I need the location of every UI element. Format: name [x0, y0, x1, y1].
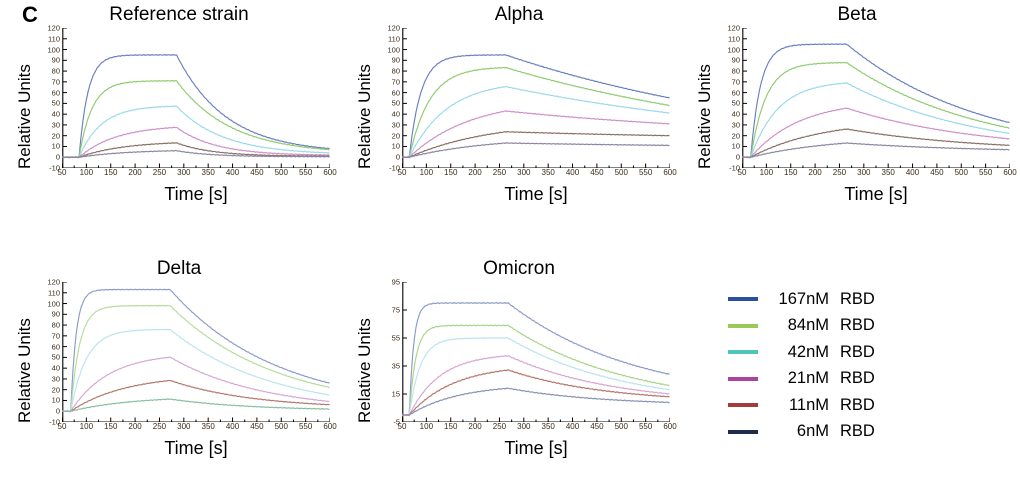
x-tick-label: 50 — [58, 422, 67, 431]
legend-item[interactable]: 11nMRBD — [728, 392, 875, 419]
x-tick-label: 500 — [615, 168, 628, 177]
y-tick-label: 75 — [392, 306, 400, 315]
chart-canvas: 50100150200250300350400450500550600Time … — [62, 28, 330, 205]
y-axis-title: Relative Units — [694, 28, 716, 205]
x-tick-label: 400 — [226, 422, 239, 431]
x-tick-label: 100 — [80, 168, 93, 177]
y-tick-label: 80 — [392, 67, 400, 76]
x-tick-label: 350 — [881, 168, 894, 177]
legend-item[interactable]: 42nMRBD — [728, 339, 875, 366]
x-tick-label: 500 — [955, 168, 968, 177]
panel-omicron: OmicronRelative Units-515355575955010015… — [354, 256, 684, 459]
y-tick-label: 90 — [392, 56, 400, 65]
legend-concentration-label: 84nM — [767, 316, 829, 335]
legend-item[interactable]: 84nMRBD — [728, 313, 875, 340]
y-tick-label: 10 — [732, 142, 740, 151]
y-tick-label: 40 — [392, 110, 400, 119]
y-tick-label: 10 — [52, 142, 60, 151]
chart-title: Reference strain — [14, 2, 344, 28]
y-tick-label: 0 — [56, 153, 60, 162]
x-tick-label: 500 — [615, 422, 628, 431]
y-axis-title: Relative Units — [354, 28, 376, 205]
x-axis-title: Time [s] — [402, 438, 670, 459]
legend-color-swatch — [728, 430, 758, 434]
x-axis-ticks: 50100150200250300350400450500550600 — [742, 168, 1010, 182]
x-tick-label: 500 — [275, 168, 288, 177]
y-tick-label: 90 — [52, 56, 60, 65]
chart-title: Alpha — [354, 2, 684, 28]
y-axis-ticks: -100102030405060708090100110120 — [36, 282, 62, 422]
panel-reference-strain: Reference strainRelative Units-100102030… — [14, 2, 344, 205]
y-tick-label: 60 — [392, 88, 400, 97]
chart-title: Omicron — [354, 256, 684, 282]
x-tick-label: 200 — [128, 168, 141, 177]
x-tick-label: 350 — [541, 168, 554, 177]
y-tick-label: 15 — [392, 390, 400, 399]
x-tick-label: 450 — [250, 168, 263, 177]
plot-area: Relative Units-1001020304050607080901001… — [14, 28, 344, 205]
x-tick-label: 200 — [468, 422, 481, 431]
x-tick-label: 300 — [857, 168, 870, 177]
x-tick-label: 50 — [58, 168, 67, 177]
x-tick-label: 50 — [738, 168, 747, 177]
legend-analyte-label: RBD — [840, 369, 875, 388]
y-tick-label: 0 — [396, 153, 400, 162]
chart-canvas: 50100150200250300350400450500550600Time … — [402, 282, 670, 459]
sensorgram-curve — [62, 106, 329, 158]
y-tick-label: 95 — [392, 278, 400, 287]
plot-area: Relative Units-1001020304050607080901001… — [694, 28, 1020, 205]
y-tick-label: 30 — [732, 120, 740, 129]
y-axis-ticks: -100102030405060708090100110120 — [716, 28, 742, 168]
legend-concentration-label: 11nM — [767, 396, 829, 415]
plot-area: Relative Units-1001020304050607080901001… — [354, 28, 684, 205]
x-tick-label: 550 — [639, 422, 652, 431]
legend-color-swatch — [728, 324, 758, 328]
x-tick-label: 450 — [590, 422, 603, 431]
x-tick-label: 600 — [663, 168, 676, 177]
y-tick-label: 30 — [52, 120, 60, 129]
y-tick-label: 0 — [736, 153, 740, 162]
legend-analyte-label: RBD — [840, 396, 875, 415]
x-axis-ticks: 50100150200250300350400450500550600 — [62, 168, 330, 182]
sensorgram-curve — [742, 143, 1009, 158]
y-tick-label: 20 — [52, 131, 60, 140]
sensorgram-curve — [742, 108, 1009, 158]
sensorgram-curve — [402, 303, 669, 416]
y-tick-label: 10 — [52, 396, 60, 405]
legend-item[interactable]: 167nMRBD — [728, 286, 875, 313]
x-tick-label: 600 — [1003, 168, 1016, 177]
panel-delta: DeltaRelative Units-10010203040506070809… — [14, 256, 344, 459]
x-tick-label: 200 — [468, 168, 481, 177]
x-tick-label: 450 — [250, 422, 263, 431]
x-tick-label: 600 — [323, 422, 336, 431]
legend-analyte-label: RBD — [840, 316, 875, 335]
x-tick-label: 100 — [420, 168, 433, 177]
y-tick-label: 30 — [52, 374, 60, 383]
plot-area: Relative Units-5153555759550100150200250… — [354, 282, 684, 459]
sensorgram-curve — [402, 55, 669, 158]
y-tick-label: 80 — [52, 67, 60, 76]
y-axis-ticks: -51535557595 — [376, 282, 402, 422]
x-tick-label: 300 — [177, 422, 190, 431]
x-tick-label: 200 — [808, 168, 821, 177]
y-tick-label: 60 — [52, 342, 60, 351]
x-tick-label: 50 — [398, 168, 407, 177]
y-tick-label: 100 — [387, 45, 400, 54]
y-tick-label: 60 — [52, 88, 60, 97]
x-tick-label: 200 — [128, 422, 141, 431]
y-tick-label: 110 — [388, 34, 400, 43]
y-axis-title: Relative Units — [14, 28, 36, 205]
x-tick-label: 50 — [398, 422, 407, 431]
y-tick-label: 90 — [52, 310, 60, 319]
x-axis-title: Time [s] — [402, 184, 670, 205]
y-tick-label: 100 — [727, 45, 740, 54]
y-tick-label: 50 — [732, 99, 740, 108]
y-tick-label: 40 — [52, 110, 60, 119]
y-axis-title: Relative Units — [354, 282, 376, 459]
y-tick-label: 70 — [52, 77, 60, 86]
legend-color-swatch — [728, 377, 758, 381]
y-tick-label: 120 — [727, 24, 740, 33]
chart-canvas: 50100150200250300350400450500550600Time … — [402, 28, 670, 205]
x-axis-title: Time [s] — [62, 438, 330, 459]
y-axis-title: Relative Units — [14, 282, 36, 459]
legend-concentration-label: 21nM — [767, 369, 829, 388]
legend-color-swatch — [728, 350, 758, 354]
sensorgram-curve — [742, 129, 1009, 158]
x-tick-label: 100 — [420, 422, 433, 431]
x-axis-title: Time [s] — [742, 184, 1010, 205]
x-tick-label: 600 — [323, 168, 336, 177]
x-tick-label: 300 — [517, 168, 530, 177]
chart-title: Beta — [694, 2, 1020, 28]
y-tick-label: 100 — [47, 299, 60, 308]
sensorgram-curve — [62, 289, 329, 411]
x-tick-label: 400 — [226, 168, 239, 177]
y-tick-label: 0 — [56, 407, 60, 416]
y-tick-label: 110 — [728, 34, 740, 43]
legend-analyte-label: RBD — [840, 343, 875, 362]
x-tick-label: 300 — [517, 422, 530, 431]
y-tick-label: 40 — [732, 110, 740, 119]
legend-item[interactable]: 6nMRBD — [728, 419, 875, 446]
y-tick-label: 30 — [392, 120, 400, 129]
x-tick-label: 350 — [201, 168, 214, 177]
sensorgram-curve — [402, 325, 669, 416]
y-tick-label: 20 — [392, 131, 400, 140]
x-tick-label: 550 — [299, 422, 312, 431]
x-tick-label: 400 — [906, 168, 919, 177]
y-tick-label: 20 — [732, 131, 740, 140]
x-tick-label: 550 — [299, 168, 312, 177]
x-tick-label: 350 — [541, 422, 554, 431]
y-axis-ticks: -100102030405060708090100110120 — [376, 28, 402, 168]
y-tick-label: 100 — [47, 45, 60, 54]
x-tick-label: 250 — [493, 422, 506, 431]
y-tick-label: 60 — [732, 88, 740, 97]
x-tick-label: 150 — [444, 422, 457, 431]
x-tick-label: 150 — [104, 168, 117, 177]
x-tick-label: 100 — [760, 168, 773, 177]
legend-color-swatch — [728, 403, 758, 407]
x-axis-title: Time [s] — [62, 184, 330, 205]
y-tick-label: 120 — [47, 24, 60, 33]
sensorgram-curve — [402, 388, 669, 416]
legend-color-swatch — [728, 297, 758, 301]
x-tick-label: 550 — [639, 168, 652, 177]
y-tick-label: 70 — [392, 77, 400, 86]
sensorgram-curve — [62, 357, 329, 412]
legend: 167nMRBD84nMRBD42nMRBD21nMRBD11nMRBD6nMR… — [728, 286, 875, 445]
panel-beta: BetaRelative Units-100102030405060708090… — [694, 2, 1020, 205]
y-tick-label: 120 — [47, 278, 60, 287]
x-tick-label: 150 — [444, 168, 457, 177]
x-tick-label: 250 — [833, 168, 846, 177]
sensorgram-curve — [62, 305, 329, 411]
x-axis-ticks: 50100150200250300350400450500550600 — [62, 422, 330, 436]
sensorgram-curve — [402, 356, 669, 416]
x-tick-label: 600 — [663, 422, 676, 431]
sensorgram-curve — [62, 81, 329, 158]
legend-analyte-label: RBD — [840, 290, 875, 309]
plot-area: Relative Units-1001020304050607080901001… — [14, 282, 344, 459]
y-tick-label: 55 — [392, 334, 400, 343]
chart-canvas: 50100150200250300350400450500550600Time … — [62, 282, 330, 459]
y-tick-label: 70 — [732, 77, 740, 86]
legend-concentration-label: 42nM — [767, 343, 829, 362]
x-tick-label: 400 — [566, 422, 579, 431]
y-tick-label: 80 — [52, 321, 60, 330]
x-tick-label: 400 — [566, 168, 579, 177]
y-tick-label: 50 — [52, 353, 60, 362]
y-tick-label: 50 — [52, 99, 60, 108]
x-axis-ticks: 50100150200250300350400450500550600 — [402, 168, 670, 182]
sensorgram-curve — [742, 44, 1009, 158]
x-tick-label: 350 — [201, 422, 214, 431]
x-axis-ticks: 50100150200250300350400450500550600 — [402, 422, 670, 436]
x-tick-label: 250 — [493, 168, 506, 177]
x-tick-label: 250 — [153, 422, 166, 431]
y-tick-label: 110 — [48, 288, 60, 297]
chart-title: Delta — [14, 256, 344, 282]
legend-analyte-label: RBD — [840, 422, 875, 441]
legend-concentration-label: 6nM — [767, 422, 829, 441]
legend-item[interactable]: 21nMRBD — [728, 366, 875, 393]
legend-concentration-label: 167nM — [767, 290, 829, 309]
y-tick-label: 35 — [392, 362, 400, 371]
y-tick-label: 120 — [387, 24, 400, 33]
x-tick-label: 450 — [590, 168, 603, 177]
y-tick-label: 80 — [732, 67, 740, 76]
sensorgram-curve — [742, 83, 1009, 158]
y-tick-label: 20 — [52, 385, 60, 394]
y-tick-label: 70 — [52, 331, 60, 340]
panel-alpha: AlphaRelative Units-10010203040506070809… — [354, 2, 684, 205]
x-tick-label: 150 — [784, 168, 797, 177]
x-tick-label: 150 — [104, 422, 117, 431]
sensorgram-curve — [62, 399, 329, 412]
chart-canvas: 50100150200250300350400450500550600Time … — [742, 28, 1010, 205]
x-tick-label: 300 — [177, 168, 190, 177]
x-tick-label: 550 — [979, 168, 992, 177]
y-tick-label: 40 — [52, 364, 60, 373]
x-tick-label: 250 — [153, 168, 166, 177]
y-tick-label: 50 — [392, 99, 400, 108]
y-tick-label: 90 — [732, 56, 740, 65]
y-tick-label: 10 — [392, 142, 400, 151]
x-tick-label: 100 — [80, 422, 93, 431]
x-tick-label: 500 — [275, 422, 288, 431]
y-tick-label: 110 — [48, 34, 60, 43]
x-tick-label: 450 — [930, 168, 943, 177]
y-axis-ticks: -100102030405060708090100110120 — [36, 28, 62, 168]
